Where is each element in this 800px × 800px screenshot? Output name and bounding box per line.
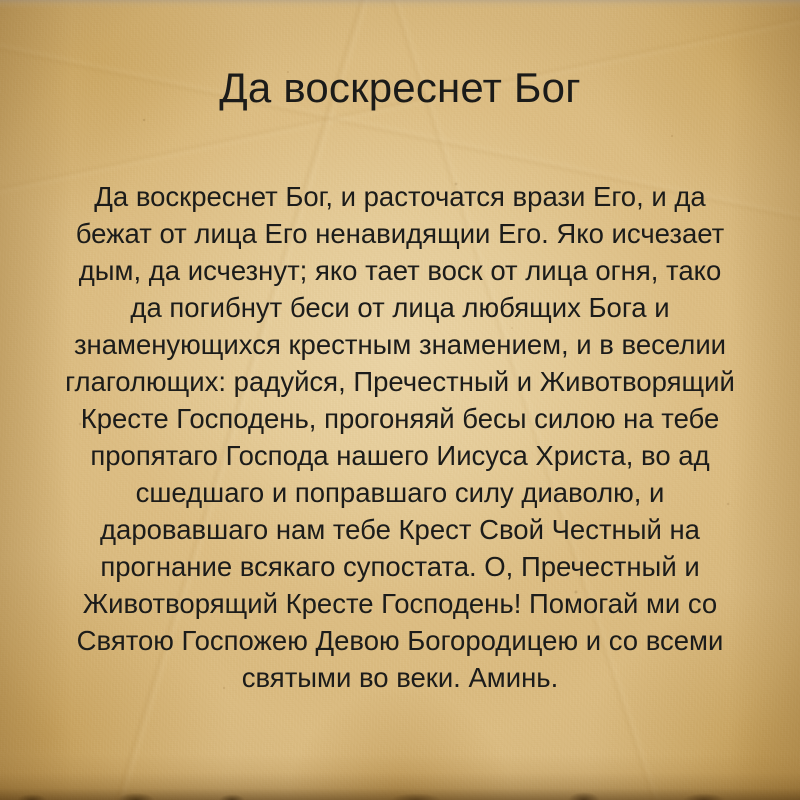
prayer-content: Да воскреснет Бог Да воскреснет Бог, и р… [0, 0, 800, 800]
prayer-line: Кресте Господень, прогоняяй бесы силою н… [26, 400, 774, 437]
prayer-line: Животворящий Кресте Господень! Помогай м… [26, 585, 774, 622]
prayer-line: Святою Госпожею Девою Богородицею и со в… [26, 622, 774, 659]
prayer-line: даровавшаго нам тебе Крест Свой Честный … [26, 511, 774, 548]
prayer-line: Да воскреснет Бог, и расточатся врази Ег… [26, 178, 774, 215]
prayer-line: дым, да исчезнут; яко тает воск от лица … [26, 252, 774, 289]
prayer-line: пропятаго Господа нашего Иисуса Христа, … [26, 437, 774, 474]
prayer-line: глаголющих: радуйся, Пречестный и Животв… [26, 363, 774, 400]
prayer-line: да погибнут беси от лица любящих Бога и [26, 289, 774, 326]
prayer-line: сшедшаго и поправшаго силу диаволю, и [26, 474, 774, 511]
prayer-line: знаменующихся крестным знамением, и в ве… [26, 326, 774, 363]
prayer-body-text: Да воскреснет Бог, и расточатся врази Ег… [26, 178, 774, 696]
prayer-line: святыми во веки. Аминь. [26, 659, 774, 696]
prayer-line: прогнание всякаго супостата. О, Пречестн… [26, 548, 774, 585]
prayer-card: Да воскреснет Бог Да воскреснет Бог, и р… [0, 0, 800, 800]
page-title: Да воскреснет Бог [0, 64, 800, 112]
prayer-line: бежат от лица Его ненавидящии Его. Яко и… [26, 215, 774, 252]
